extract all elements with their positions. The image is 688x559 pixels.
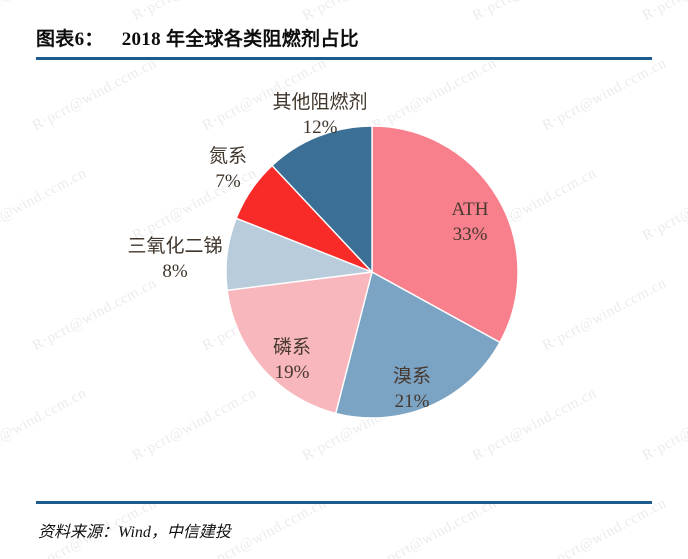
slice-label-value: 19% <box>273 360 311 385</box>
pie-chart: ATH33%溴系21%磷系19%三氧化二锑8%氮系7%其他阻燃剂12% <box>0 62 688 497</box>
watermark-text: R·pcrt@wind.ccm.cn <box>370 495 500 559</box>
source-note: 资料来源：Wind，中信建投 <box>38 518 231 542</box>
header-divider <box>36 57 652 60</box>
watermark-text: R·pcrt@wind.ccm.cn <box>130 0 260 25</box>
slice-label-name: ATH <box>452 197 489 222</box>
page-title: 图表6：2018 年全球各类阻燃剂占比 <box>36 24 359 51</box>
watermark-text: R·pcrt@wind.ccm.cn <box>540 495 670 559</box>
slice-label-name: 三氧化二锑 <box>127 234 222 259</box>
slice-label: 磷系19% <box>273 335 311 385</box>
watermark-text: R·pcrt@wind.ccm.cn <box>300 0 430 25</box>
slice-label: 其他阻燃剂12% <box>272 90 367 140</box>
slice-label: 氮系7% <box>209 144 247 194</box>
slice-label-name: 其他阻燃剂 <box>272 90 367 115</box>
footer-divider <box>36 501 652 504</box>
slice-label-name: 磷系 <box>273 335 311 360</box>
slice-label-value: 8% <box>127 259 222 284</box>
slice-label: 三氧化二锑8% <box>127 234 222 284</box>
slice-label-name: 溴系 <box>393 364 431 389</box>
slice-label-value: 12% <box>272 115 367 140</box>
slice-label-value: 33% <box>452 222 489 247</box>
slice-label: ATH33% <box>452 197 489 247</box>
watermark-text: R·pcrt@wind.ccm.cn <box>640 0 688 25</box>
slice-label-value: 7% <box>209 169 247 194</box>
figure-page: R·pcrt@wind.ccm.cnR·pcrt@wind.ccm.cnR·pc… <box>0 0 688 559</box>
slice-label-value: 21% <box>393 389 431 414</box>
slice-label-name: 氮系 <box>209 144 247 169</box>
figure-title-text: 2018 年全球各类阻燃剂占比 <box>122 29 359 50</box>
watermark-text: R·pcrt@wind.ccm.cn <box>470 0 600 25</box>
figure-number: 图表6： <box>36 29 104 50</box>
slice-label: 溴系21% <box>393 364 431 414</box>
watermark-text: R·pcrt@wind.ccm.cn <box>0 0 90 25</box>
